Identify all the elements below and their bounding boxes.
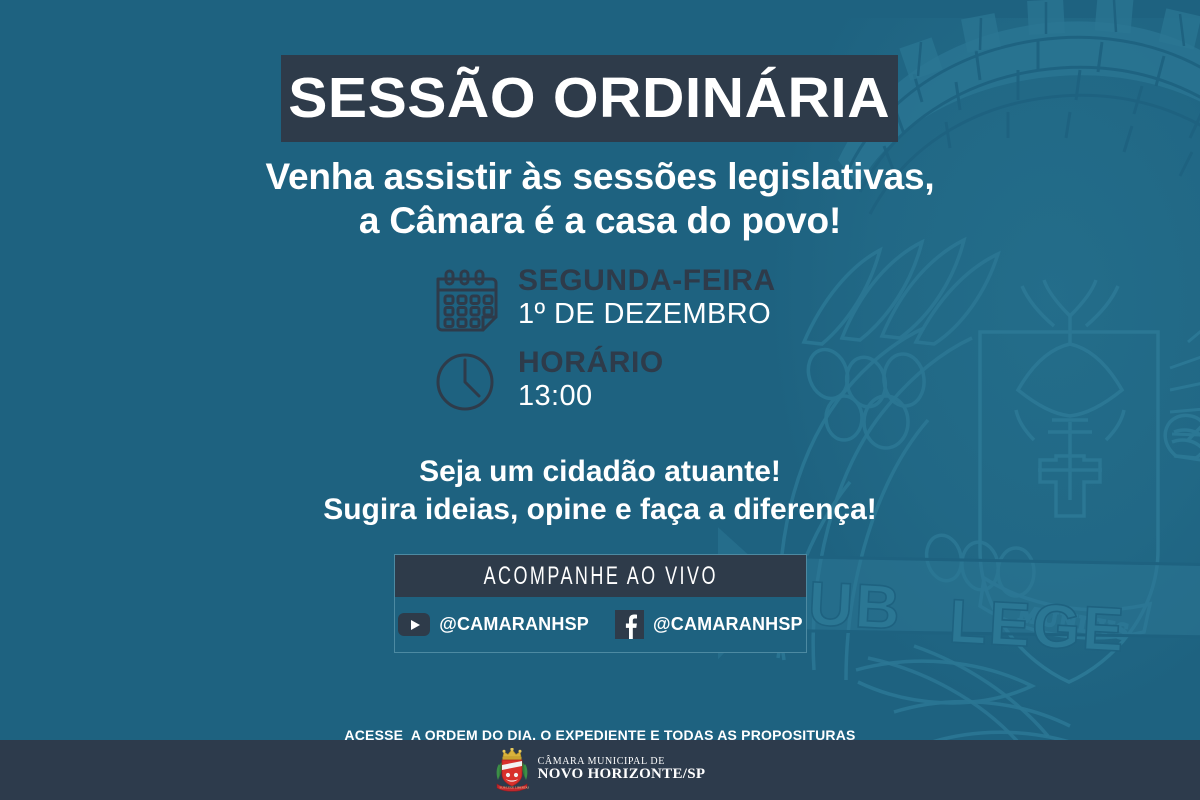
poster-canvas: MUNDVS <box>0 0 1200 800</box>
call-to-action: Seja um cidadão atuante! Sugira ideias, … <box>0 453 1200 530</box>
date-texts: SEGUNDA-FEIRA 1º DE DEZEMBRO <box>518 266 776 331</box>
play-triangle-icon <box>411 620 420 630</box>
poster-title-band: SESSÃO ORDINÁRIA <box>281 55 898 142</box>
shield-motto-text: MUNDVS <box>1017 600 1133 644</box>
facebook-icon[interactable] <box>615 610 644 639</box>
live-broadcast-box: ACOMPANHE AO VIVO @CAMARANHSP @CAMARANHS… <box>394 554 807 653</box>
footer-bar: SUB LEGE LIBERTAS CÂMARA MUNICIPAL DE NO… <box>0 740 1200 800</box>
time-value: 13:00 <box>518 382 664 412</box>
social-link-youtube[interactable]: @CAMARANHSP <box>398 613 589 636</box>
poster-subtitle: Venha assistir às sessões legislativas, … <box>0 155 1200 242</box>
subtitle-line-1: Venha assistir às sessões legislativas, <box>0 155 1200 199</box>
time-texts: HORÁRIO 13:00 <box>518 348 664 413</box>
time-label: HORÁRIO <box>518 348 664 379</box>
youtube-icon[interactable] <box>398 613 430 636</box>
live-heading-text: ACOMPANHE AO VIVO <box>483 562 717 591</box>
date-label: SEGUNDA-FEIRA <box>518 266 776 297</box>
crest-motto: SUB LEGE LIBERTAS <box>499 786 529 790</box>
watermark-ribbon-right: LEGE <box>947 587 1127 665</box>
cta-line-1: Seja um cidadão atuante! <box>0 453 1200 491</box>
detail-row-date: SEGUNDA-FEIRA 1º DE DEZEMBRO <box>430 264 850 334</box>
calendar-icon <box>430 264 500 334</box>
youtube-handle: @CAMARANHSP <box>439 614 589 635</box>
cta-line-2: Sugira ideias, opine e faça a diferença! <box>0 491 1200 529</box>
social-link-facebook[interactable]: @CAMARANHSP <box>615 610 803 639</box>
footer-logo-text: CÂMARA MUNICIPAL DE NOVO HORIZONTE/SP <box>538 757 706 783</box>
detail-row-time: HORÁRIO 13:00 <box>430 346 850 416</box>
live-socials-row: @CAMARANHSP @CAMARANHSP <box>395 597 806 652</box>
coat-of-arms-icon: SUB LEGE LIBERTAS <box>495 748 529 792</box>
facebook-f-glyph <box>615 610 644 639</box>
live-heading-band: ACOMPANHE AO VIVO <box>395 555 806 597</box>
clock-icon <box>430 346 500 416</box>
footer-line-2: NOVO HORIZONTE/SP <box>538 767 706 783</box>
event-details: SEGUNDA-FEIRA 1º DE DEZEMBRO HORÁRIO 13:… <box>430 264 850 428</box>
date-value: 1º DE DEZEMBRO <box>518 300 776 330</box>
facebook-handle: @CAMARANHSP <box>653 614 803 635</box>
subtitle-line-2: a Câmara é a casa do povo! <box>0 199 1200 243</box>
page-title: SESSÃO ORDINÁRIA <box>289 70 891 127</box>
